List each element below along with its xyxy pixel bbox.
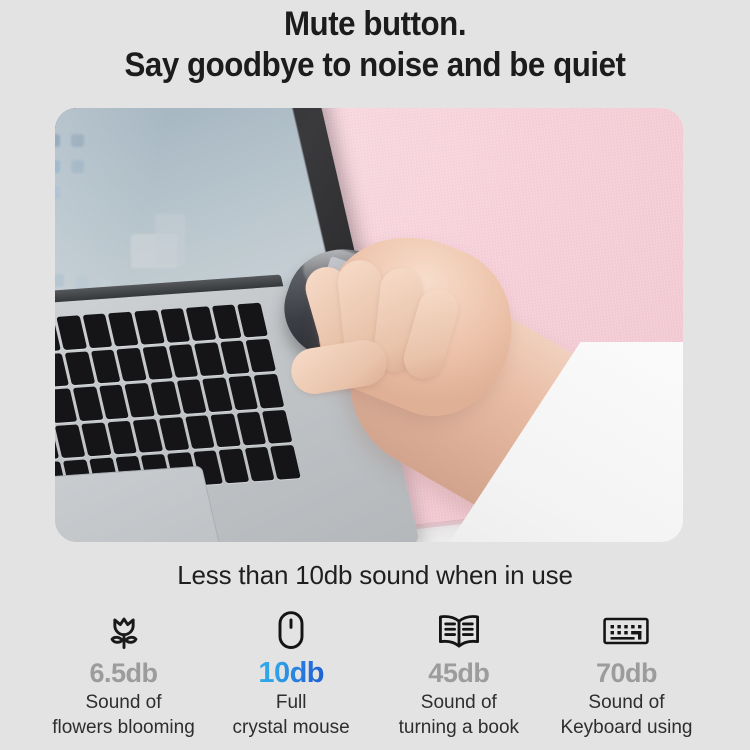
photo-scene bbox=[55, 108, 683, 542]
feature-label-line-1: Sound of bbox=[421, 690, 497, 715]
feature-db-value: 45db bbox=[428, 656, 489, 690]
feature-label-line-1: Full bbox=[276, 690, 307, 715]
open-book-icon bbox=[436, 608, 482, 654]
feature-db-value: 70db bbox=[596, 656, 657, 690]
page-title: Mute button. Say goodbye to noise and be… bbox=[0, 0, 750, 86]
decibel-comparison-row: 6.5db Sound of flowers blooming 10db Ful… bbox=[40, 608, 710, 740]
feature-crystal-mouse: 10db Full crystal mouse bbox=[208, 608, 375, 740]
keyboard-icon bbox=[602, 608, 650, 654]
laptop-trackpad bbox=[55, 466, 229, 542]
headline-line-2: Say goodbye to noise and be quiet bbox=[30, 44, 720, 86]
feature-label-line-2: flowers blooming bbox=[52, 715, 195, 740]
headline-line-1: Mute button. bbox=[30, 4, 720, 44]
feature-db-value: 10db bbox=[258, 656, 324, 690]
feature-turning-a-book: 45db Sound of turning a book bbox=[375, 608, 542, 740]
feature-flowers-blooming: 6.5db Sound of flowers blooming bbox=[40, 608, 207, 740]
feature-label-line-2: Keyboard using bbox=[560, 715, 692, 740]
product-photo bbox=[55, 108, 683, 542]
feature-label-line-2: turning a book bbox=[399, 715, 519, 740]
feature-keyboard-using: 70db Sound of Keyboard using bbox=[543, 608, 710, 740]
feature-db-value: 6.5db bbox=[89, 656, 157, 690]
feature-label-line-1: Sound of bbox=[85, 690, 161, 715]
computer-mouse-icon bbox=[271, 608, 311, 654]
feature-label-line-1: Sound of bbox=[588, 690, 664, 715]
feature-label-line-2: crystal mouse bbox=[233, 715, 350, 740]
photo-caption: Less than 10db sound when in use bbox=[0, 560, 750, 591]
tulip-flower-icon bbox=[102, 608, 146, 654]
